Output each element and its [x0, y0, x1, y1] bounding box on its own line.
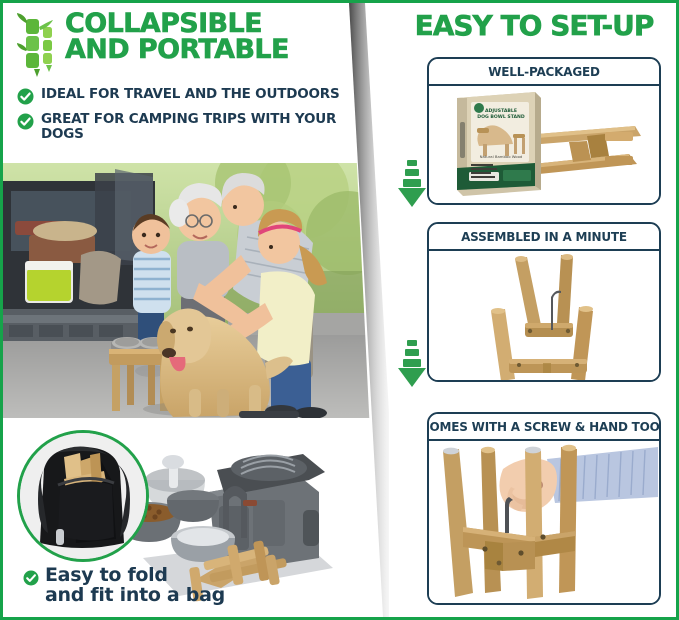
headline-line-2: AND PORTABLE [65, 37, 289, 63]
step-image [429, 441, 659, 604]
svg-text:DOG BOWL STAND: DOG BOWL STAND [477, 114, 525, 120]
bamboo-stalks-icon [17, 13, 59, 79]
svg-text:ADJUSTABLE: ADJUSTABLE [485, 108, 517, 114]
fold-caption: Easy to fold and fit into a bag [23, 566, 225, 606]
hero-photo [3, 163, 375, 418]
backpack-circle-inset [17, 430, 149, 562]
arrow-down-icon [397, 158, 427, 208]
step-image [429, 251, 659, 381]
fold-caption-line-2: and fit into a bag [45, 586, 225, 606]
check-circle-icon [17, 88, 34, 105]
svg-text:Natural Bamboo Wood: Natural Bamboo Wood [480, 154, 523, 159]
arrow-down-icon [397, 338, 427, 388]
list-item: GREAT FOR CAMPING TRIPS WITH YOUR DOGS [17, 112, 369, 143]
step-header-label: ASSEMBLED IN A MINUTE [461, 230, 627, 244]
list-item-label: GREAT FOR CAMPING TRIPS WITH YOUR DOGS [41, 112, 369, 143]
benefit-list: IDEAL FOR TRAVEL AND THE OUTDOORS GREAT … [17, 87, 369, 150]
page-title: COLLAPSIBLE AND PORTABLE [65, 11, 289, 63]
right-panel: EASY TO SET-UP WELL-PACKAGED [389, 3, 679, 617]
step-image: ADJUSTABLE DOG BOWL STAND Natura [429, 86, 659, 204]
step-header: ASSEMBLED IN A MINUTE [429, 224, 659, 251]
step-header: WELL-PACKAGED [429, 59, 659, 86]
right-panel-title: EASY TO SET-UP [389, 9, 679, 42]
check-circle-icon [23, 570, 39, 586]
step-card-assembled: ASSEMBLED IN A MINUTE [427, 222, 661, 382]
step-card-screw-tool: COMES WITH A SCREW & HAND TOOL [427, 412, 661, 605]
left-panel: COLLAPSIBLE AND PORTABLE IDEAL FOR TRAVE… [3, 3, 375, 617]
list-item: IDEAL FOR TRAVEL AND THE OUTDOORS [17, 87, 369, 105]
list-item-label: IDEAL FOR TRAVEL AND THE OUTDOORS [41, 87, 340, 102]
headline-block: COLLAPSIBLE AND PORTABLE [17, 11, 367, 79]
step-header-label: COMES WITH A SCREW & HAND TOOL [427, 420, 661, 434]
step-header-label: WELL-PACKAGED [488, 65, 600, 79]
infographic-page: COLLAPSIBLE AND PORTABLE IDEAL FOR TRAVE… [0, 0, 679, 620]
fold-caption-line-1: Easy to fold [45, 566, 225, 586]
bottom-collage: Easy to fold and fit into a bag [3, 418, 375, 617]
step-header: COMES WITH A SCREW & HAND TOOL [429, 414, 659, 441]
check-circle-icon [17, 113, 34, 130]
step-card-well-packaged: WELL-PACKAGED [427, 57, 661, 205]
